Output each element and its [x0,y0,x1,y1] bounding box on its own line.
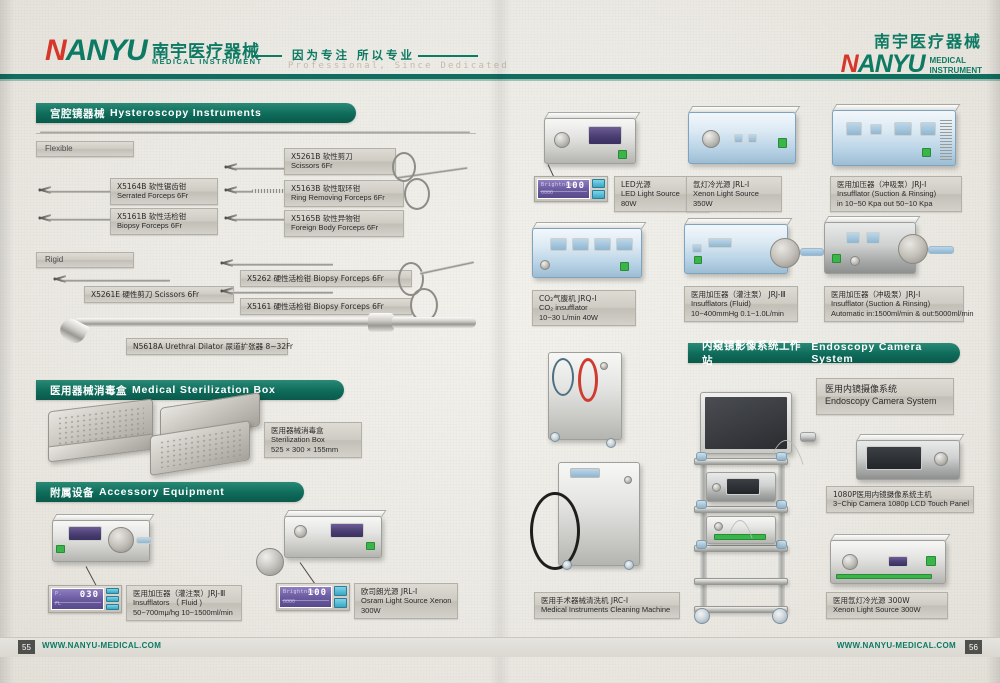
lcd-key-up[interactable] [592,179,605,188]
lcd-callout-pump: P. 030 FL [48,585,122,613]
footer-url-left[interactable]: WWW.NANYU-MEDICAL.COM [42,641,161,650]
lcd-pump-value: 030 [80,590,99,600]
label-en: CO₂ insufflator [539,303,629,312]
urethral-dilator-collar [368,313,394,332]
device-osram-light-source [284,516,382,558]
label-spec: 300W [361,606,451,615]
lcd-key-up[interactable] [334,586,347,596]
device-display-b [708,238,732,248]
lcd-screen-led: Brightness 100 0000 [537,179,590,199]
device-display-a [692,244,702,253]
device-display-c [894,122,912,136]
device-camera-port [934,452,948,466]
device-display-a [846,122,862,136]
lcd-key-down[interactable] [334,598,347,608]
device-led-light-source [544,118,636,164]
label-cn: 医用加压器（灌注泵）JRJ-Ⅲ [133,589,235,598]
device-power-button[interactable] [620,262,629,271]
camera-head [800,432,816,442]
device-knob[interactable] [712,483,721,492]
lcd-callout-light: Brightness 100 0000 [276,583,350,611]
lcd-keypad-pump[interactable] [106,588,119,610]
cleaning-machine-plate [570,468,600,478]
section-header-camera-system: 内窥镜影像系统工作站 Endoscopy Camera System [688,343,960,363]
device-cleaning-machine-top [548,352,622,440]
cart-joint-tl [696,452,707,461]
cleaning-machine-hose [530,492,580,570]
device-power-button[interactable] [832,254,841,263]
label-spec: 525 × 300 × 155mm [271,445,355,454]
lcd-light-divider [282,600,329,606]
accessory-label-insufflator: 医用加压器（灌注泵）JRJ-Ⅲ Insufflators （ Fluid ) 5… [126,585,242,621]
section-title-cn: 附属设备 [50,485,94,500]
device-display-b [866,232,880,244]
device-label-co2: CO₂气腹机 JRQ-Ⅰ CO₂ insufflator 10~30 L/min… [532,290,636,326]
device-tube-connector [136,537,152,544]
lcd-keypad-led[interactable] [592,179,605,199]
label-en: Insufflators （ Fluid ) [133,598,235,607]
label-spec: Automatic in:1500ml/min & out:5000ml/min [831,309,957,318]
light-guide-adapter [256,548,284,576]
logo-left: NANYU [45,36,147,66]
logo-right-chinese: 南宇医疗器械 [841,34,982,50]
page-header: NANYU 南宇医疗器械 MEDICAL INSTRUMENT 因为专注 所以专… [0,0,1000,82]
device-power-button[interactable] [618,150,627,159]
catalog-spread: NANYU 南宇医疗器械 MEDICAL INSTRUMENT 因为专注 所以专… [0,0,1000,683]
header-divider-dash-2 [418,55,478,57]
label-cn: X5161B 软性活检钳 [117,212,211,221]
flexible-shaft-top [40,131,470,133]
lcd-pump-divider [54,602,101,608]
device-light-port [714,522,723,531]
section-header-accessory: 附属设备 Accessory Equipment [36,482,304,502]
device-display-a [846,232,860,244]
device-light-port [702,130,720,148]
label-cn: 氙灯冷光源 JRL-Ⅰ [693,180,775,189]
logo-letter-n: N [45,34,66,67]
label-en: Ring Removing Forceps 6Fr [291,193,397,202]
label-en: Foreign Body Forceps 6Fr [291,223,397,232]
label-en: Endoscopy Camera System [825,396,945,407]
section-header-sterilization: 医用器械消毒盒 Medical Sterilization Box [36,380,344,400]
instrument-label-x5161b: X5161B 软性活检钳 Biopsy Forceps 6Fr [110,208,218,235]
label-spec: 50~700mμ/hg 10~1500ml/min [133,608,235,617]
instrument-jaw-serrated [38,186,51,195]
sterilization-perforation-tray [159,428,241,469]
fluid-pump-tube [800,248,824,256]
device-display-d [920,122,936,136]
cart-caster-left [694,608,710,624]
device-1080p-camera-unit [856,440,960,480]
logo-letters-anyu: ANYU [66,34,147,67]
section-title-en: Accessory Equipment [99,486,225,498]
instrument-label-n5618a: N5618A Urethral Dilator 尿道扩张器 8~32Fr [126,338,288,355]
cleaning-gauge [600,362,608,370]
page-number-left: 55 [18,640,35,654]
lcd-pump-line1: P. [55,591,62,597]
instrument-label-x5262: X5262 硬性活检钳 Biopsy Forceps 6Fr [240,270,412,287]
device-pump-drum [108,527,134,553]
device-label-insufflator-auto: 医用加压器（冲吸泵）JRJ-Ⅰ Insufflator (Suction & R… [824,286,964,322]
label-cn: X5164B 软性锯齿钳 [117,182,211,191]
device-power-button[interactable] [366,542,375,550]
instrument-label-x5163b: X5163B 软性取环钳 Ring Removing Forceps 6Fr [284,180,404,207]
page-edge-right [986,0,1000,683]
lcd-keypad-light[interactable] [334,586,347,608]
device-vent [940,118,952,160]
instrument-jaw-rigid-scissors [53,275,66,284]
label-en: Insufflator (Suction & Rinsing) [837,189,955,198]
instrument-jaw-biopsy-flex [38,214,51,223]
device-xenon-300w [830,540,946,584]
urethral-dilator-body [74,318,374,327]
auto-pump-drum [898,234,928,264]
section-title-cn: 内窥镜影像系统工作站 [702,338,806,368]
instrument-jaw-x5161 [220,287,233,296]
device-display-d [616,238,633,251]
camera-head-body [800,432,816,442]
lcd-key-set[interactable] [106,604,119,610]
instrument-jaw-x5262 [220,259,233,268]
label-cn: X5161 硬性活检钳 Biopsy Forceps 6Fr [247,302,405,311]
device-insufflator-fluid [52,520,150,562]
section-title-cn: 宫腔镜器械 [50,106,105,121]
device-display [330,523,364,538]
instrument-label-x5261b: X5261B 软性剪刀 Scissors 6Fr [284,148,396,175]
label-cn: 医用加压器（冲吸泵）JRJ-Ⅰ [837,180,955,189]
label-cn: 医用手术器械清洗机 JRC-Ⅰ [541,596,673,605]
label-cn: N5618A Urethral Dilator 尿道扩张器 8~32Fr [133,342,281,351]
label-en: Osram Light Source Xenon [361,596,451,605]
cleaning-main-caster-a [562,560,572,570]
lcd-screen-light: Brightness 100 0000 [279,586,332,608]
logo-right-subtitle-line1: MEDICAL [930,56,982,66]
ring-handle-upper-a [392,152,416,182]
device-xenon-light-source [688,112,796,164]
label-cn: 医用加压器（冲吸泵）JRJ-Ⅰ [831,290,957,299]
leader-line-light [300,562,316,584]
device-body [832,110,956,166]
cleaning-caster-a [550,432,560,442]
label-en: Xenon Light Source 300W [833,605,941,614]
device-indicator-b [748,134,757,143]
logo-right: 南宇医疗器械 NANYU MEDICAL INSTRUMENT [841,34,982,77]
section-title-en: Hysteroscopy Instruments [110,107,262,119]
instrument-label-x5165b: X5165B 软性异物钳 Foreign Body Forceps 6Fr [284,210,404,237]
lcd-key-down[interactable] [592,190,605,199]
cart-caster-right [772,608,788,624]
label-en: Sterilization Box [271,435,355,444]
label-en: 3~Chip Camera 1080p LCD Touch Panel [833,499,967,508]
label-cn: X5261E 硬性剪刀 Scissors 6Fr [91,290,227,299]
leader-line-pump [86,566,97,586]
device-co2-insufflator [532,228,642,278]
device-indicator-a [734,134,743,143]
page-footer: 55 WWW.NANYU-MEDICAL.COM WWW.NANYU-MEDIC… [0,637,1000,683]
device-display [888,556,908,567]
logo-left-subtitle: MEDICAL INSTRUMENT [152,57,262,66]
header-divider-dash [252,55,282,57]
device-power-button[interactable] [694,256,702,264]
device-display [588,126,622,145]
label-cn: 欧司朗光源 JRL-Ⅰ [361,587,451,596]
device-power-button[interactable] [56,545,65,553]
footer-url-right[interactable]: WWW.NANYU-MEDICAL.COM [837,641,956,650]
device-power-button[interactable] [922,148,931,157]
device-label-cleaning-machine: 医用手术器械清洗机 JRC-Ⅰ Medical Instruments Clea… [534,592,680,619]
auto-pump-tube [928,246,954,254]
label-cn: 医用氙灯冷光源 300W [833,596,941,605]
label-cn: X5165B 软性异物钳 [291,214,397,223]
cleaning-machine-knob[interactable] [624,476,632,484]
device-display-b [572,238,589,251]
device-power-button[interactable] [778,138,787,148]
device-display-b [870,124,882,135]
instrument-shaft-rigid-scissors [60,279,170,282]
device-display [726,478,760,495]
device-label-xenon: 氙灯冷光源 JRL-Ⅰ Xenon Light Source 350W [686,176,782,212]
cart-monitor-screen [705,397,787,449]
device-green-strip [836,574,932,579]
label-cn: X5261B 软性剪刀 [291,152,389,161]
lcd-led-value: 100 [566,181,585,191]
category-rigid-label: Rigid [45,255,63,265]
section-underline [36,133,476,134]
lcd-key-down[interactable] [106,596,119,602]
header-rule-secondary [0,79,1000,81]
label-en: Serrated Forceps 6Fr [117,191,211,200]
label-cn: 医用器械消毒盒 [271,426,355,435]
device-light-port [842,554,858,570]
fluid-pump-drum [770,238,800,268]
label-spec: 10~400mmHg 0.1~1.0L/min [691,309,791,318]
device-power-button[interactable] [926,556,936,566]
label-cn: X5163B 软性取环钳 [291,184,397,193]
device-knob[interactable] [554,132,570,148]
rigid-forceps-shaft-lower [420,261,474,275]
device-label-insufflator-fluid: 医用加压器（灌注泵） JRJ-Ⅲ Insufflators (Fluid) 10… [684,286,798,322]
camera-system-label: 医用内镜摄像系统 Endoscopy Camera System [816,378,954,415]
label-en: Medical Instruments Cleaning Machine [541,605,673,614]
ring-handle-upper-b [404,178,430,210]
device-touch-panel[interactable] [866,446,922,470]
label-en: Biopsy Forceps 6Fr [117,221,211,230]
device-label-insufflator-suction: 医用加压器（冲吸泵）JRJ-Ⅰ Insufflator (Suction & R… [830,176,962,212]
lcd-screen-pump: P. 030 FL [51,588,104,610]
label-cn: 医用加压器（灌注泵） JRJ-Ⅲ [691,290,791,299]
page-gutter [489,0,511,683]
urethral-dilator-handle [392,317,476,328]
lcd-light-value: 100 [308,588,327,598]
accessory-label-osram: 欧司朗光源 JRL-Ⅰ Osram Light Source Xenon 300… [354,583,458,619]
label-en: Insufflator (Suction & Rinsing) [831,299,957,308]
label-spec: in 10~50 Kpa out 50~10 Kpa [837,199,955,208]
page-number-right: 56 [965,640,982,654]
label-en: Xenon Light Source [693,189,775,198]
device-display-a [550,238,567,251]
label-en: Insufflators (Fluid) [691,299,791,308]
label-spec: 10~30 L/min 40W [539,313,629,322]
label-en: Scissors 6Fr [291,161,389,170]
device-label-1080p-camera: 1080P医用内镜摄像系统主机 3~Chip Camera 1080p LCD … [826,486,974,513]
label-spec: 350W [693,199,775,208]
lcd-key-up[interactable] [106,588,119,594]
section-title-cn: 医用器械消毒盒 [50,383,127,398]
cleaning-hose-blue [552,358,574,396]
instrument-label-x5261e: X5261E 硬性剪刀 Scissors 6Fr [84,286,234,303]
device-light-port [294,525,307,538]
label-cn: 1080P医用内镜摄像系统主机 [833,490,967,499]
instrument-shaft-x5161 [228,291,333,294]
sterilization-box-label: 医用器械消毒盒 Sterilization Box 525 × 300 × 15… [264,422,362,458]
page-edge-left [0,0,14,683]
category-flexible-label: Flexible [45,144,73,154]
instrument-label-x5164b: X5164B 软性锯齿钳 Serrated Forceps 6Fr [110,178,218,205]
cleaning-hose-red [578,358,598,402]
instrument-jaw-ring [224,186,237,195]
device-display-c [594,238,611,251]
label-cn: X5262 硬性活检钳 Biopsy Forceps 6Fr [247,274,405,283]
device-insufflator-suction [832,110,956,166]
device-gas-port [540,260,550,270]
label-cn: CO₂气腹机 JRQ-Ⅰ [539,294,629,303]
category-rigid: Rigid [36,252,134,268]
slogan-english: Professional, Since Dedicated [288,61,509,71]
device-label-xenon-300w: 医用氙灯冷光源 300W Xenon Light Source 300W [826,592,948,619]
section-title-en: Endoscopy Camera System [811,341,960,365]
label-cn: 医用内镜摄像系统 [825,385,945,396]
instrument-jaw-scissors [224,163,237,172]
cleaning-caster-b [606,438,616,448]
instrument-jaw-foreign [224,214,237,223]
device-display [68,526,102,541]
cleaning-main-caster-b [624,560,634,570]
device-port [850,256,860,266]
lcd-led-divider [540,191,587,197]
section-header-hysteroscopy: 宫腔镜器械 Hysteroscopy Instruments [36,103,356,123]
category-flexible: Flexible [36,141,134,157]
lcd-callout-led: Brightness 100 0000 [534,176,608,202]
instrument-shaft-x5262 [228,263,333,266]
